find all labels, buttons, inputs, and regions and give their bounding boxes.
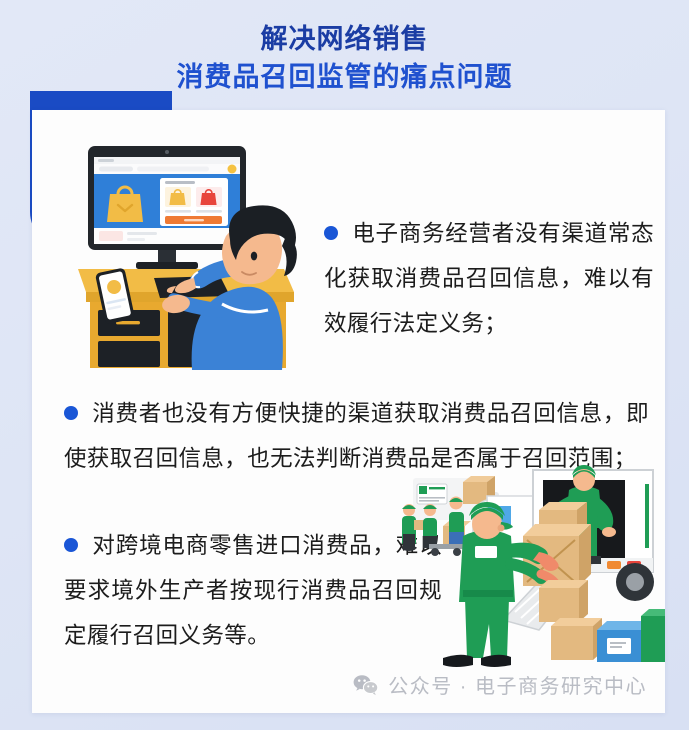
watermark: 公众号 · 电子商务研究中心 <box>353 670 647 699</box>
page-title-line-2: 消费品召回监管的痛点问题 <box>0 60 689 95</box>
bullet-item-1: 电子商务经营者没有渠道常态化获取消费品召回信息，难以有效履行法定义务； <box>324 211 654 346</box>
page-title: 解决网络销售 消费品召回监管的痛点问题 <box>0 22 689 94</box>
watermark-text: 公众号 · 电子商务研究中心 <box>388 670 647 699</box>
wechat-icon <box>353 674 379 696</box>
content-card: 电子商务经营者没有渠道常态化获取消费品召回信息，难以有效履行法定义务； 消费者也… <box>32 110 665 713</box>
bullet-dot-icon <box>64 406 78 420</box>
bullet-dot-icon <box>324 226 338 240</box>
bullet-dot-icon <box>64 538 78 552</box>
courier-truck-loading-illustration <box>383 440 665 690</box>
page-title-line-1: 解决网络销售 <box>0 22 689 57</box>
bullet-item-1-text: 电子商务经营者没有渠道常态化获取消费品召回信息，难以有效履行法定义务； <box>324 221 654 336</box>
